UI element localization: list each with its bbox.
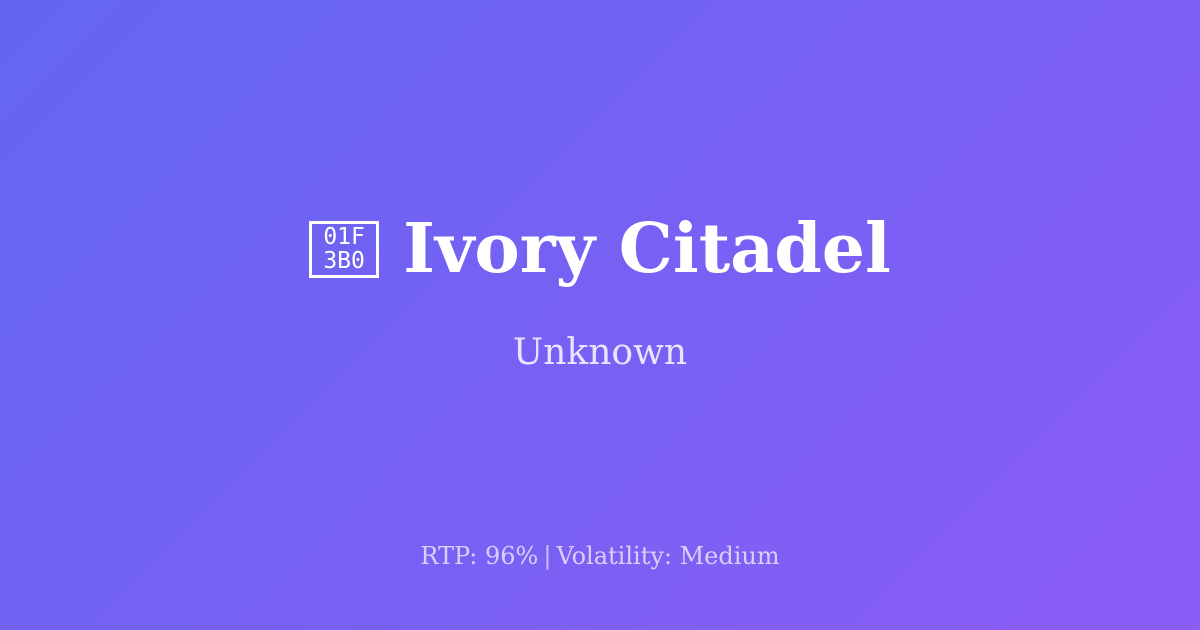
game-og-card: 01F 3B0 Ivory Citadel Unknown RTP: 96%|V…	[0, 0, 1200, 630]
game-meta-line: RTP: 96%|Volatility: Medium	[0, 544, 1200, 568]
title-row: 01F 3B0 Ivory Citadel	[309, 215, 891, 283]
rtp-value: RTP: 96%	[420, 542, 538, 570]
provider-label: Unknown	[513, 335, 687, 371]
hero-content: 01F 3B0 Ivory Citadel Unknown	[0, 0, 1200, 608]
volatility-value: Volatility: Medium	[556, 542, 779, 570]
meta-separator: |	[538, 542, 556, 570]
tofu-codepoint-bottom: 3B0	[323, 249, 365, 273]
tofu-codepoint-top: 01F	[323, 225, 365, 249]
slot-machine-icon: 01F 3B0	[309, 221, 379, 278]
game-title: Ivory Citadel	[403, 215, 891, 283]
